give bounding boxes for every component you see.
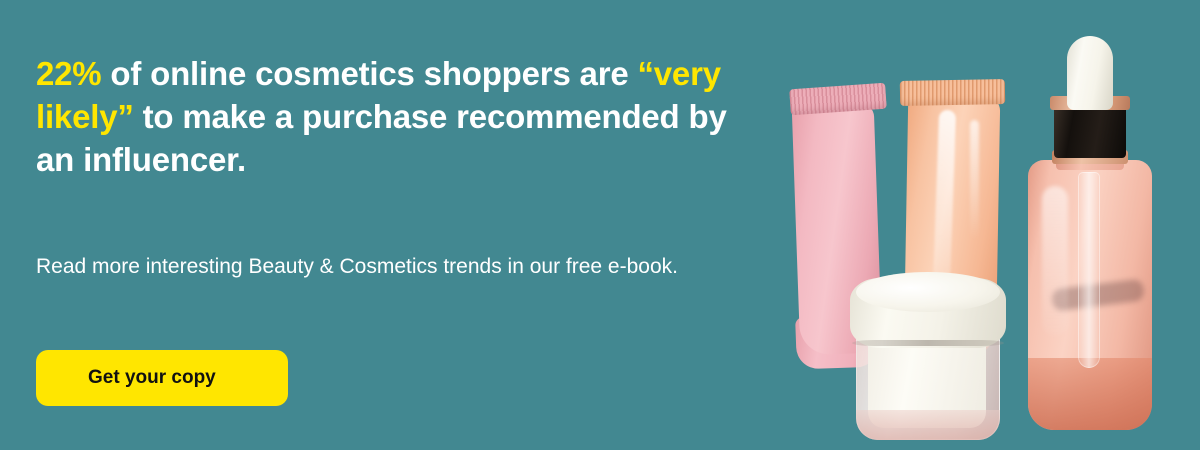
headline-part2: to make a purchase recommended by an inf… bbox=[36, 98, 727, 178]
cream-jar-lid-seam bbox=[852, 340, 1004, 346]
headline: 22% of online cosmetics shoppers are “ve… bbox=[36, 52, 746, 181]
peach-tube-gloss-2 bbox=[970, 120, 979, 240]
peach-tube-cap bbox=[900, 79, 1005, 106]
headline-stat: 22% bbox=[36, 55, 101, 92]
dropper-bottle-liquid bbox=[1028, 358, 1152, 430]
cream-jar-foot bbox=[856, 410, 1000, 440]
subtext: Read more interesting Beauty & Cosmetics… bbox=[36, 252, 736, 282]
cream-jar-lid-top bbox=[856, 272, 1000, 312]
dropper-bottle-highlight bbox=[1042, 186, 1068, 336]
get-your-copy-button[interactable]: Get your copy bbox=[36, 350, 288, 406]
dropper-bottle-pipette bbox=[1078, 172, 1100, 368]
promotional-banner: 22% of online cosmetics shoppers are “ve… bbox=[0, 0, 1200, 450]
dropper-bottle-collar bbox=[1054, 104, 1126, 158]
copy-block: 22% of online cosmetics shoppers are “ve… bbox=[36, 52, 746, 181]
dropper-bottle-bulb bbox=[1067, 36, 1113, 110]
headline-part1: of online cosmetics shoppers are bbox=[101, 55, 637, 92]
product-photo bbox=[760, 0, 1200, 450]
